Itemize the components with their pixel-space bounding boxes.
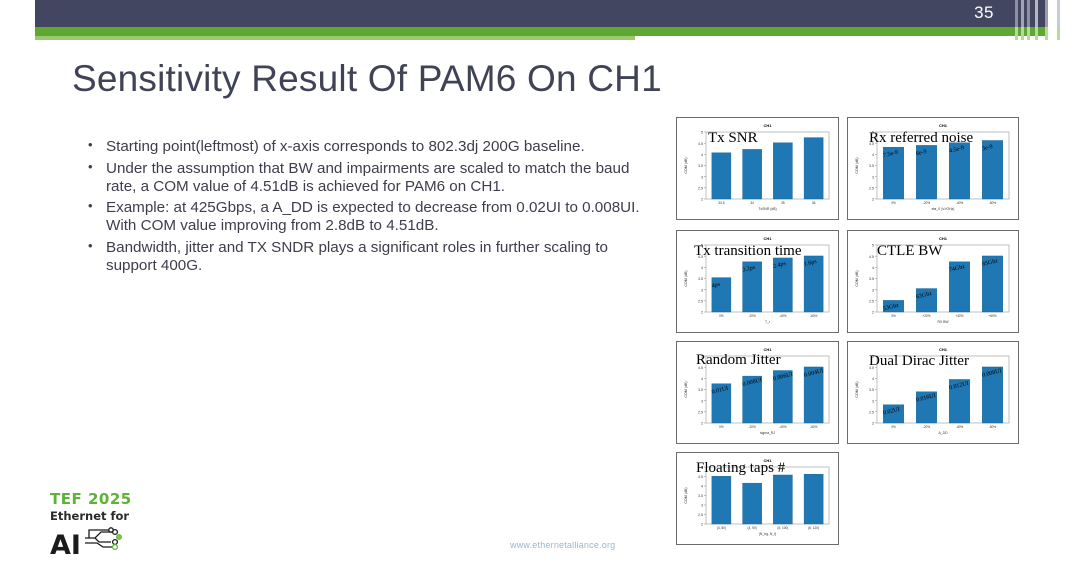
y-tick-label: 3.5 bbox=[869, 277, 874, 281]
x-tick-label: 0% bbox=[719, 425, 724, 429]
x-axis-label: RX BW bbox=[937, 320, 949, 324]
header-stripe-green bbox=[1027, 27, 1030, 40]
y-tick-label: 3.5 bbox=[698, 494, 703, 498]
header-green-accent bbox=[35, 27, 1045, 36]
y-tick-label: 4.5 bbox=[869, 255, 874, 259]
y-tick-label: 4 bbox=[872, 153, 874, 157]
header-stripe bbox=[1021, 0, 1024, 27]
tef-logo: TEF 2025 Ethernet for AI bbox=[50, 490, 150, 558]
x-tick-label: 0% bbox=[891, 314, 896, 318]
y-tick-label: 4.5 bbox=[698, 475, 703, 479]
x-tick-label: (6, 120) bbox=[808, 526, 819, 530]
header-green-light-accent bbox=[35, 36, 635, 40]
logo-ai-row: AI bbox=[50, 525, 150, 558]
y-tick-label: 2 bbox=[701, 523, 703, 527]
bullet-item: Bandwidth, jitter and TX SNDR plays a si… bbox=[84, 239, 650, 275]
y-tick-label: 2.5 bbox=[869, 299, 874, 303]
y-tick-label: 4.5 bbox=[698, 142, 703, 146]
x-tick-label: -60% bbox=[810, 314, 818, 318]
y-tick-label: 2.5 bbox=[698, 299, 703, 303]
chart-rx-referred-noise: CH122.533.544.55COM (dB)0%-20%-40%-60%et… bbox=[851, 121, 1015, 216]
y-tick-label: 4 bbox=[701, 485, 703, 489]
chart-plot-floating-taps: CH122.533.544.55COM (dB)(3, 80)(4, 90)(5… bbox=[680, 456, 835, 541]
chart-plot-tx-snr: CH122.533.544.55COM (dB)33.5343536TxSNR … bbox=[680, 121, 835, 216]
y-tick-label: 3.5 bbox=[869, 164, 874, 168]
bar[interactable] bbox=[773, 475, 792, 524]
logo-line-tef-2025: TEF 2025 bbox=[50, 490, 150, 508]
x-tick-label: (3, 80) bbox=[717, 526, 726, 530]
y-tick-label: 2 bbox=[872, 311, 874, 315]
x-tick-label: -60% bbox=[989, 201, 997, 205]
chart-card-tx-transition-time[interactable]: CH122.533.544.55COM (dB)0%-20%-40%-60%T_… bbox=[676, 230, 839, 333]
chart-card-ctle-bw[interactable]: CH122.533.544.55COM (dB)0%+20%+40%+60%RX… bbox=[847, 230, 1019, 333]
chart-plot-ctle-bw: CH122.533.544.55COM (dB)0%+20%+40%+60%RX… bbox=[851, 234, 1015, 329]
y-tick-label: 3 bbox=[701, 288, 703, 292]
x-axis-label: (N_bg, N_f) bbox=[759, 532, 777, 536]
bar[interactable] bbox=[743, 483, 762, 524]
y-tick-label: 3 bbox=[872, 288, 874, 292]
header-stripe-decoration bbox=[1005, 0, 1080, 40]
y-tick-label: 3.5 bbox=[698, 164, 703, 168]
logo-line-ai: AI bbox=[50, 534, 81, 558]
slide-canvas: 35 Sensitivity Result Of PAM6 On CH1 Sta… bbox=[0, 0, 1080, 568]
x-tick-label: +20% bbox=[922, 314, 930, 318]
header-bar bbox=[35, 0, 1045, 27]
y-tick-label: 4 bbox=[872, 266, 874, 270]
x-tick-label: -60% bbox=[810, 425, 818, 429]
x-tick-label: -40% bbox=[779, 425, 787, 429]
chart-plot-random-jitter: CH122.533.544.55COM (dB)0%-20%-40%-60%si… bbox=[680, 345, 835, 440]
chart-card-tx-snr[interactable]: CH122.533.544.55COM (dB)33.5343536TxSNR … bbox=[676, 117, 839, 220]
bar[interactable] bbox=[712, 476, 731, 524]
bullet-list: Starting point(leftmost) of x-axis corre… bbox=[84, 138, 650, 278]
y-tick-label: 5 bbox=[701, 466, 703, 470]
bar[interactable] bbox=[804, 474, 823, 524]
chart-card-dual-dirac-jitter[interactable]: CH122.533.544.55COM (dB)0%-20%-40%-60%A_… bbox=[847, 341, 1019, 444]
chart-card-rx-referred-noise[interactable]: CH122.533.544.55COM (dB)0%-20%-40%-60%et… bbox=[847, 117, 1019, 220]
y-axis-label: COM (dB) bbox=[684, 487, 688, 503]
chart-plot-rx-referred-noise: CH122.533.544.55COM (dB)0%-20%-40%-60%et… bbox=[851, 121, 1015, 216]
header-stripe-green bbox=[1021, 27, 1024, 40]
x-tick-label: 35 bbox=[781, 201, 785, 205]
header-stripe bbox=[1057, 0, 1060, 27]
x-tick-label: 0% bbox=[891, 425, 896, 429]
y-tick-label: 3 bbox=[701, 399, 703, 403]
y-axis-label: COM (dB) bbox=[684, 270, 688, 286]
x-tick-label: -40% bbox=[779, 314, 787, 318]
y-axis-label: COM (dB) bbox=[684, 381, 688, 397]
y-tick-label: 4.5 bbox=[698, 255, 703, 259]
chart-dual-dirac-jitter: CH122.533.544.55COM (dB)0%-20%-40%-60%A_… bbox=[851, 345, 1015, 440]
y-tick-label: 2.5 bbox=[869, 410, 874, 414]
y-axis-label: COM (dB) bbox=[855, 270, 859, 286]
bullet-item: Starting point(leftmost) of x-axis corre… bbox=[84, 138, 650, 156]
bar[interactable] bbox=[712, 153, 731, 199]
y-tick-label: 4.5 bbox=[698, 366, 703, 370]
circuit-trace-icon bbox=[83, 525, 129, 556]
x-axis-label: T_r bbox=[765, 320, 771, 324]
chart-random-jitter: CH122.533.544.55COM (dB)0%-20%-40%-60%si… bbox=[680, 345, 835, 440]
page-title: Sensitivity Result Of PAM6 On CH1 bbox=[72, 58, 662, 100]
header-stripe-green bbox=[1045, 27, 1048, 40]
y-tick-label: 3 bbox=[872, 175, 874, 179]
chart-subtitle: CH1 bbox=[763, 123, 772, 128]
x-tick-label: -60% bbox=[989, 425, 997, 429]
y-tick-label: 2 bbox=[872, 198, 874, 202]
x-tick-label: -40% bbox=[956, 201, 964, 205]
chart-card-floating-taps[interactable]: CH122.533.544.55COM (dB)(3, 80)(4, 90)(5… bbox=[676, 452, 839, 545]
y-tick-label: 5 bbox=[872, 355, 874, 359]
y-tick-label: 5 bbox=[701, 131, 703, 135]
chart-subtitle: CH1 bbox=[939, 123, 948, 128]
chart-subtitle: CH1 bbox=[939, 347, 948, 352]
header-stripe bbox=[1035, 0, 1038, 27]
y-tick-label: 5 bbox=[872, 131, 874, 135]
x-tick-label: 0% bbox=[891, 201, 896, 205]
y-tick-label: 4.5 bbox=[869, 142, 874, 146]
bar[interactable] bbox=[804, 138, 823, 199]
chart-tx-transition-time: CH122.533.544.55COM (dB)0%-20%-40%-60%T_… bbox=[680, 234, 835, 329]
y-tick-label: 4 bbox=[701, 377, 703, 381]
y-tick-label: 3 bbox=[701, 504, 703, 508]
bullet-item: Under the assumption that BW and impairm… bbox=[84, 160, 650, 196]
y-tick-label: 2 bbox=[701, 198, 703, 202]
y-axis-label: COM (dB) bbox=[684, 157, 688, 173]
x-axis-label: TxSNR (dB) bbox=[758, 207, 776, 211]
x-axis-label: A_DD bbox=[938, 431, 948, 435]
x-axis-label: sigma_RJ bbox=[760, 431, 775, 435]
y-tick-label: 2.5 bbox=[698, 410, 703, 414]
y-tick-label: 5 bbox=[701, 244, 703, 248]
y-tick-label: 3 bbox=[701, 175, 703, 179]
x-tick-label: -20% bbox=[923, 425, 931, 429]
y-tick-label: 5 bbox=[872, 244, 874, 248]
x-tick-label: 36 bbox=[812, 201, 816, 205]
bullet-item: Example: at 425Gbps, a A_DD is expected … bbox=[84, 199, 650, 235]
x-tick-label: (4, 90) bbox=[748, 526, 757, 530]
y-tick-label: 4 bbox=[872, 377, 874, 381]
chart-subtitle: CH1 bbox=[763, 347, 772, 352]
header-stripe-green bbox=[1057, 27, 1060, 40]
y-tick-label: 4.5 bbox=[869, 366, 874, 370]
y-tick-label: 2.5 bbox=[698, 186, 703, 190]
logo-line-ethernet-for: Ethernet for bbox=[50, 509, 150, 523]
y-tick-label: 2 bbox=[701, 422, 703, 426]
header-stripe bbox=[1015, 0, 1018, 27]
chart-subtitle: CH1 bbox=[763, 458, 772, 463]
x-tick-label: -20% bbox=[748, 314, 756, 318]
y-axis-label: COM (dB) bbox=[855, 381, 859, 397]
y-tick-label: 3 bbox=[872, 399, 874, 403]
bar[interactable] bbox=[743, 149, 762, 199]
y-tick-label: 3.5 bbox=[869, 388, 874, 392]
page-number: 35 bbox=[974, 3, 994, 23]
chart-plot-tx-transition-time: CH122.533.544.55COM (dB)0%-20%-40%-60%T_… bbox=[680, 234, 835, 329]
chart-floating-taps: CH122.533.544.55COM (dB)(3, 80)(4, 90)(5… bbox=[680, 456, 835, 541]
x-tick-label: -20% bbox=[923, 201, 931, 205]
chart-card-random-jitter[interactable]: CH122.533.544.55COM (dB)0%-20%-40%-60%si… bbox=[676, 341, 839, 444]
y-tick-label: 4 bbox=[701, 266, 703, 270]
y-axis-label: COM (dB) bbox=[855, 157, 859, 173]
y-tick-label: 2.5 bbox=[869, 186, 874, 190]
header-stripe-green bbox=[1015, 27, 1018, 40]
x-tick-label: -40% bbox=[956, 425, 964, 429]
chart-plot-dual-dirac-jitter: CH122.533.544.55COM (dB)0%-20%-40%-60%A_… bbox=[851, 345, 1015, 440]
x-axis-label: eta_0 (V²/GHz) bbox=[932, 207, 955, 211]
x-tick-label: (5, 100) bbox=[777, 526, 788, 530]
x-tick-label: 0% bbox=[719, 314, 724, 318]
y-tick-label: 3.5 bbox=[698, 277, 703, 281]
y-tick-label: 4 bbox=[701, 153, 703, 157]
header-stripe-green bbox=[1035, 27, 1038, 40]
chart-ctle-bw: CH122.533.544.55COM (dB)0%+20%+40%+60%RX… bbox=[851, 234, 1015, 329]
header-stripe bbox=[1045, 0, 1048, 27]
chart-subtitle: CH1 bbox=[939, 236, 948, 241]
footer-url: www.ethernetalliance.org bbox=[510, 540, 615, 550]
x-tick-label: 34 bbox=[750, 201, 754, 205]
y-tick-label: 2.5 bbox=[698, 513, 703, 517]
x-tick-label: +60% bbox=[988, 314, 996, 318]
x-tick-label: -20% bbox=[748, 425, 756, 429]
y-tick-label: 5 bbox=[701, 355, 703, 359]
y-tick-label: 2 bbox=[701, 311, 703, 315]
y-tick-label: 3.5 bbox=[698, 388, 703, 392]
chart-subtitle: CH1 bbox=[763, 236, 772, 241]
header-stripe bbox=[1027, 0, 1030, 27]
chart-tx-snr: CH122.533.544.55COM (dB)33.5343536TxSNR … bbox=[680, 121, 835, 216]
x-tick-label: +40% bbox=[955, 314, 963, 318]
y-tick-label: 2 bbox=[872, 422, 874, 426]
bar[interactable] bbox=[773, 143, 792, 199]
x-tick-label: 33.5 bbox=[718, 201, 724, 205]
